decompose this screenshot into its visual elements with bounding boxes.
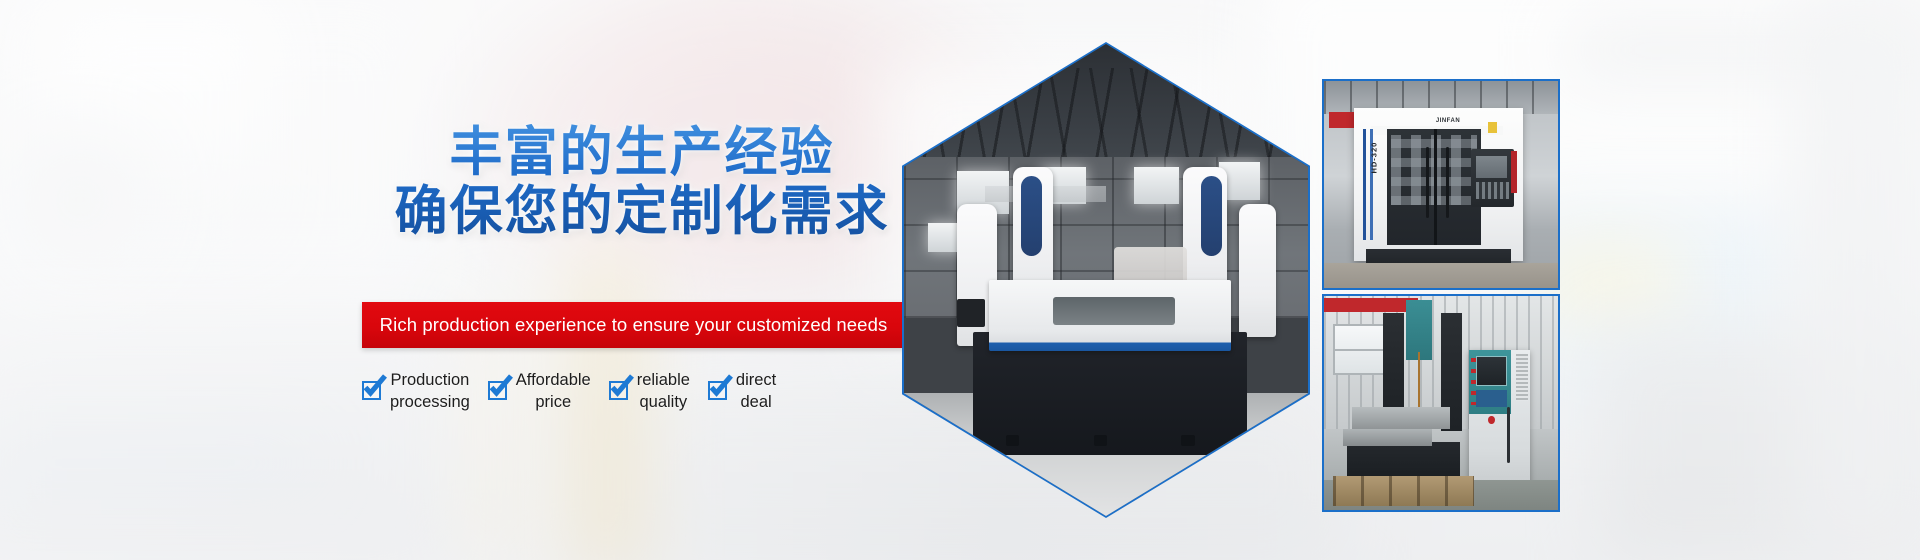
- checkbox-checked-icon: [362, 381, 381, 400]
- promo-banner: 丰富的生产经验 确保您的定制化需求 Rich production experi…: [0, 0, 1920, 560]
- machine-model-label: HD-320: [1361, 135, 1387, 181]
- feature-label: Production processing: [390, 370, 470, 414]
- feature-label-line-1: Affordable: [516, 371, 591, 389]
- machine-photo-warning-tag: [1488, 122, 1497, 132]
- photo-machine-foot: [1006, 435, 1020, 446]
- feature-label-line-1: reliable: [637, 371, 690, 389]
- photo-dark-block: [957, 299, 985, 327]
- hexagon-border: [902, 42, 1310, 518]
- feature-label-line-1: direct: [736, 371, 776, 389]
- feature-item-affordable-price: Affordable price: [488, 370, 591, 414]
- photo-machine-column: [1239, 204, 1275, 336]
- feature-label-line-2: price: [516, 392, 591, 414]
- photo-machine-panel: [1201, 176, 1222, 256]
- feature-label-line-2: processing: [390, 392, 470, 414]
- subtitle-text: Rich production experience to ensure you…: [362, 302, 905, 348]
- feature-list: Production processing Affordable price: [362, 370, 932, 414]
- headline-line-2: 确保您的定制化需求: [362, 183, 922, 242]
- photo-machine-foot: [1181, 435, 1195, 446]
- checkbox-checked-icon: [488, 381, 507, 400]
- machine-photo-cnc-keypad: [1476, 182, 1509, 199]
- edm-photo-control-panel: [1476, 390, 1506, 407]
- feature-label: reliable quality: [637, 370, 690, 414]
- edm-photo-worktable: [1352, 407, 1450, 428]
- feature-item-direct-deal: direct deal: [708, 370, 776, 414]
- photo-roof-truss: [904, 68, 1308, 172]
- feature-label: Affordable price: [516, 370, 591, 414]
- photo-window: [1134, 167, 1178, 205]
- photo-machine-bed-window: [1053, 297, 1174, 325]
- machine-photo-red-accent: [1511, 151, 1517, 192]
- edm-photo-worktable-lower: [1343, 429, 1432, 446]
- edm-photo-gantry-left: [1383, 313, 1404, 416]
- feature-label: direct deal: [736, 370, 776, 414]
- machine-photo-door-handle: [1426, 147, 1429, 217]
- edm-photo-wall-banner: [1324, 298, 1418, 312]
- edm-photo-cord: [1507, 407, 1510, 463]
- machine-brand-label: JINFAN: [1427, 117, 1469, 125]
- edm-photo-screen: [1476, 356, 1506, 386]
- right-photo-bottom: [1322, 294, 1560, 512]
- feature-item-production-processing: Production processing: [362, 370, 470, 414]
- checkbox-checked-icon: [609, 381, 628, 400]
- edm-photo-base: [1347, 442, 1459, 481]
- photo-machine-foot: [1094, 435, 1108, 446]
- feature-label-line-1: Production: [390, 371, 469, 389]
- hexagon-photo-content: [904, 44, 1308, 516]
- machine-photo-door-split: [1434, 129, 1437, 245]
- banner-headline: 丰富的生产经验 确保您的定制化需求: [362, 124, 922, 243]
- feature-label-line-2: quality: [637, 392, 690, 414]
- edm-photo-window: [1333, 324, 1389, 375]
- hexagon-photo: [902, 42, 1310, 518]
- edm-photo-emergency-stop: [1488, 416, 1495, 425]
- subtitle-bar: Rich production experience to ensure you…: [362, 302, 905, 348]
- edm-photo-buttons: [1471, 358, 1476, 405]
- headline-line-1: 丰富的生产经验: [362, 124, 922, 183]
- machine-photo-ground: [1324, 263, 1558, 288]
- checkbox-checked-icon: [708, 381, 727, 400]
- edm-photo-pallet: [1333, 476, 1473, 506]
- photo-machine-panel: [1021, 176, 1042, 256]
- feature-item-reliable-quality: reliable quality: [609, 370, 690, 414]
- machine-photo-door-handle: [1446, 147, 1449, 217]
- right-photo-top: HD-320 JINFAN: [1322, 79, 1560, 290]
- edm-photo-vent: [1516, 354, 1528, 401]
- machine-photo-cnc-screen: [1476, 156, 1506, 179]
- feature-label-line-2: deal: [736, 392, 776, 414]
